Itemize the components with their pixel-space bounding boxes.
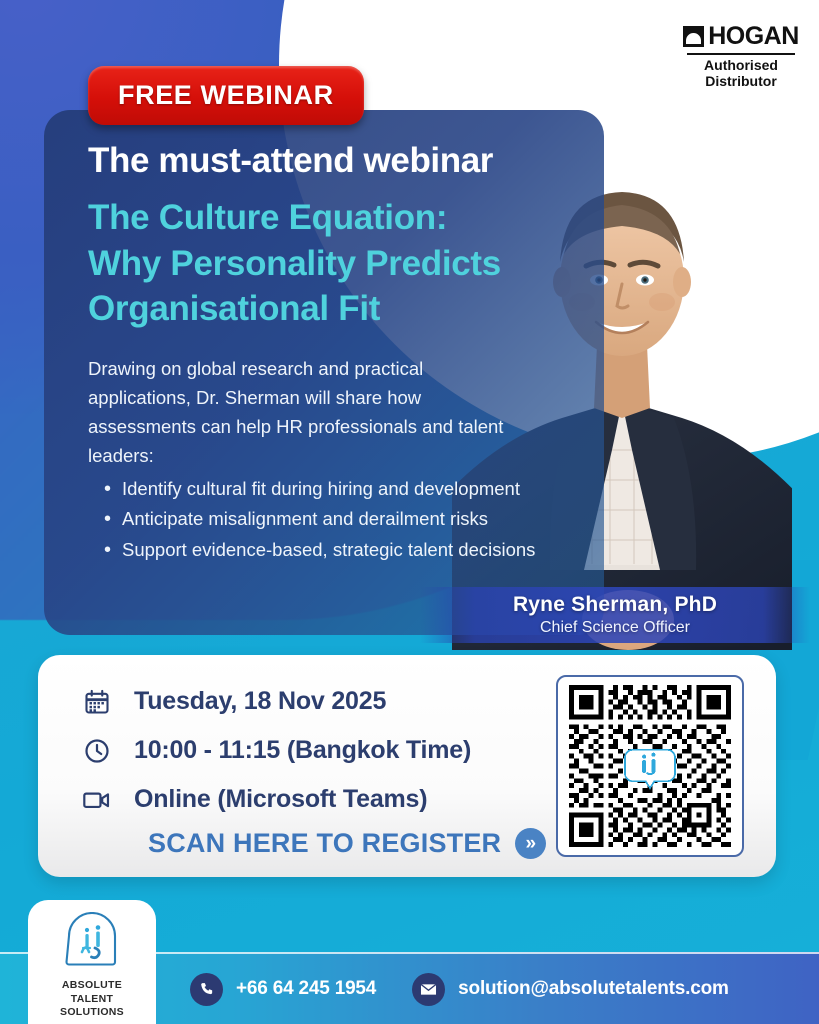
webinar-bullet-list: Identify cultural fit during hiring and … bbox=[88, 475, 588, 565]
qr-code[interactable] bbox=[556, 675, 744, 857]
logo-line-2: TALENT bbox=[60, 993, 124, 1007]
detail-platform-text: Online (Microsoft Teams) bbox=[134, 785, 427, 814]
detail-date-text: Tuesday, 18 Nov 2025 bbox=[134, 687, 386, 716]
speaker-name: Ryne Sherman, PhD bbox=[513, 593, 717, 617]
webinar-kicker: The must-attend webinar bbox=[88, 140, 588, 181]
clock-icon bbox=[80, 737, 114, 765]
company-logo: ABSOLUTE TALENT SOLUTIONS bbox=[28, 900, 156, 1024]
free-webinar-badge: FREE WEBINAR bbox=[88, 66, 364, 125]
hogan-sub-line-1: Authorised bbox=[687, 58, 795, 74]
list-item: Identify cultural fit during hiring and … bbox=[88, 475, 538, 504]
absolute-talent-solutions-mark bbox=[59, 912, 125, 974]
event-detail-rows: Tuesday, 18 Nov 2025 10:00 - 11:15 (Bang… bbox=[80, 677, 471, 824]
hogan-arch-icon bbox=[683, 26, 704, 47]
title-line-3: Organisational Fit bbox=[88, 286, 588, 332]
title-line-1: The Culture Equation: bbox=[88, 195, 588, 241]
hogan-wordmark: HOGAN bbox=[708, 24, 799, 49]
calendar-icon bbox=[80, 688, 114, 716]
scan-cta-label: SCAN HERE TO REGISTER bbox=[148, 828, 501, 859]
speaker-role: Chief Science Officer bbox=[540, 619, 690, 637]
detail-row-platform: Online (Microsoft Teams) bbox=[80, 775, 471, 824]
list-item: Support evidence-based, strategic talent… bbox=[88, 536, 538, 565]
contact-phone-text: +66 64 245 1954 bbox=[236, 978, 376, 1000]
hogan-sub-line-2: Distributor bbox=[687, 74, 795, 90]
video-camera-icon bbox=[80, 786, 114, 814]
page-title: The Culture Equation: Why Personality Pr… bbox=[88, 195, 588, 332]
contact-phone[interactable]: +66 64 245 1954 bbox=[190, 973, 376, 1006]
detail-row-date: Tuesday, 18 Nov 2025 bbox=[80, 677, 471, 726]
logo-line-1: ABSOLUTE bbox=[60, 979, 124, 993]
hogan-divider bbox=[687, 53, 795, 55]
hogan-authorised-distributor-badge: HOGAN Authorised Distributor bbox=[687, 24, 795, 89]
speaker-nameplate: Ryne Sherman, PhD Chief Science Officer bbox=[420, 587, 810, 643]
contact-email[interactable]: solution@absolutetalents.com bbox=[412, 973, 729, 1006]
detail-time-text: 10:00 - 11:15 (Bangkok Time) bbox=[134, 736, 471, 765]
detail-row-time: 10:00 - 11:15 (Bangkok Time) bbox=[80, 726, 471, 775]
webinar-content: The must-attend webinar The Culture Equa… bbox=[88, 140, 588, 567]
phone-icon bbox=[190, 973, 223, 1006]
title-line-2: Why Personality Predicts bbox=[88, 241, 588, 287]
scan-to-register-cta[interactable]: SCAN HERE TO REGISTER » bbox=[148, 828, 546, 859]
double-chevron-right-icon[interactable]: » bbox=[515, 828, 546, 859]
contact-email-text: solution@absolutetalents.com bbox=[458, 978, 729, 1000]
logo-line-3: SOLUTIONS bbox=[60, 1006, 124, 1020]
list-item: Anticipate misalignment and derailment r… bbox=[88, 505, 538, 534]
envelope-icon bbox=[412, 973, 445, 1006]
webinar-description: Drawing on global research and practical… bbox=[88, 354, 508, 471]
